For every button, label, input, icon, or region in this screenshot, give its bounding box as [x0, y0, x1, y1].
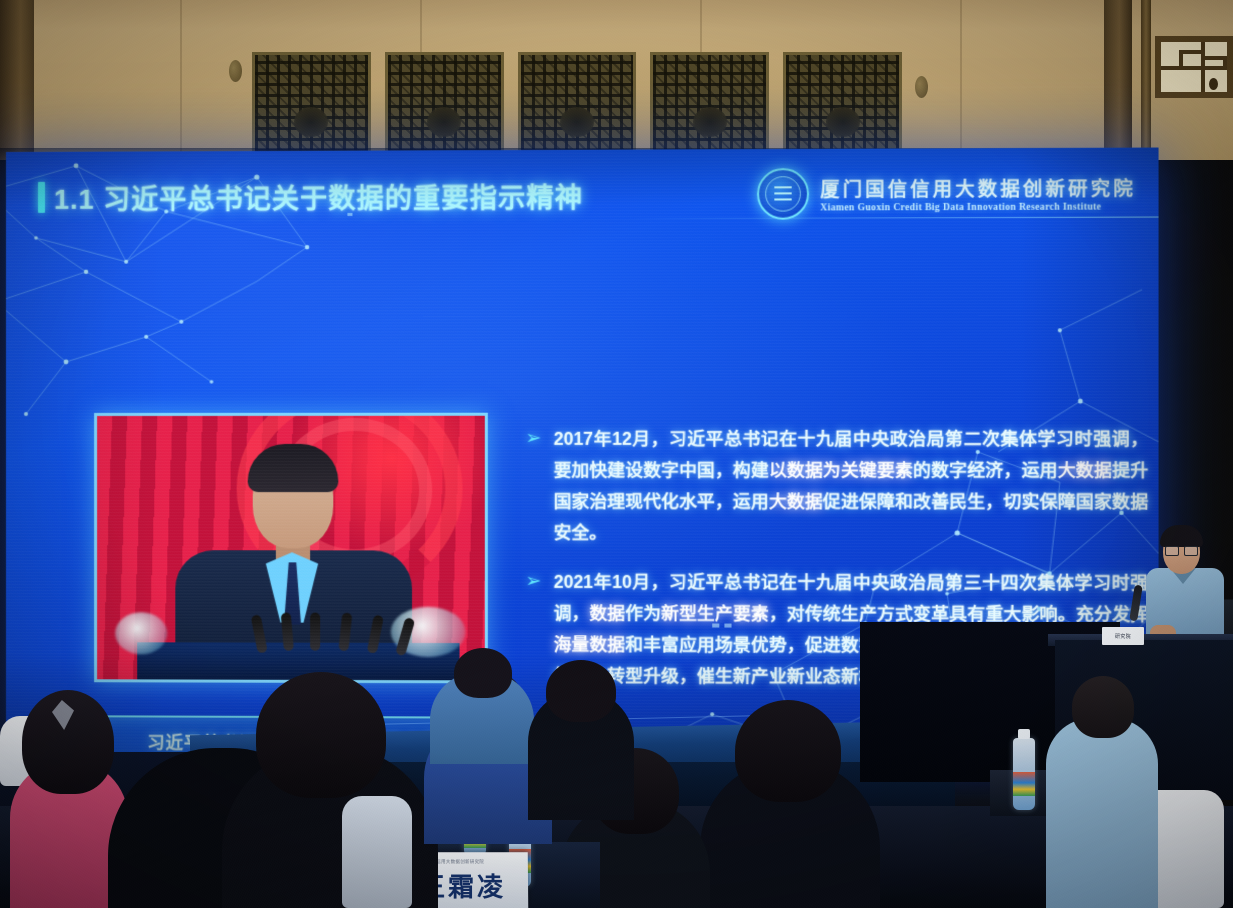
bullet-plain: 作为	[625, 603, 661, 623]
organization-name-en: Xiamen Guoxin Credit Big Data Innovation…	[820, 202, 1136, 213]
decorative-lattice-panels	[252, 52, 902, 160]
chair	[342, 796, 412, 908]
wall-pillar-left	[0, 0, 34, 160]
bullet-highlight: 以数据为关键要素	[769, 460, 913, 480]
bullet-highlight: 新型生产要素	[661, 603, 769, 623]
audience-member-head	[256, 672, 386, 798]
chevron-right-icon: ➢	[525, 424, 541, 549]
organization-logo-block: 厦门国信信用大数据创新研究院 Xiamen Guoxin Credit Big …	[757, 167, 1136, 220]
conference-room-photo: 1.1 习近平总书记关于数据的重要指示精神 厦门国信信用大数据创新研究院 Xia…	[0, 0, 1233, 908]
podium-name-sign: 研究院	[1102, 627, 1144, 645]
bullet-highlight: 数据	[589, 603, 625, 623]
microphone-icon	[310, 613, 320, 651]
audience-member-head	[546, 660, 616, 722]
presenter-glasses-icon	[1165, 546, 1198, 554]
bullet-item: ➢ 2017年12月，习近平总书记在十九届中央政治局第二次集体学习时强调，要加快…	[525, 424, 1148, 550]
title-accent-bar	[38, 182, 45, 213]
slide-title-row: 1.1 习近平总书记关于数据的重要指示精神	[38, 176, 583, 217]
audience-member-head	[1072, 676, 1134, 738]
flower-arrangement	[115, 612, 167, 654]
organization-name-cn: 厦门国信信用大数据创新研究院	[820, 173, 1136, 201]
bullet-highlight: 海量数据	[554, 634, 626, 654]
window-mullion	[1141, 0, 1151, 160]
wall-knob	[915, 76, 928, 98]
water-bottle	[1013, 738, 1035, 810]
slide-title: 1.1 习近平总书记关于数据的重要指示精神	[54, 176, 583, 217]
wall-knob	[229, 60, 242, 82]
leader-speech-photo	[94, 413, 488, 684]
audience-member-body	[1046, 718, 1158, 908]
presenter-hair	[1160, 525, 1203, 547]
institute-seal-icon	[757, 168, 809, 220]
bullet-highlight: 大数据	[1058, 460, 1112, 480]
bullet-highlight: 大数据	[769, 491, 823, 511]
audience-member-head	[454, 648, 512, 698]
audience-member-head	[735, 700, 841, 802]
podium-sign-text: 研究院	[1115, 633, 1131, 640]
lattice-window	[1155, 36, 1233, 98]
wall-pillar-right	[1104, 0, 1132, 160]
bullet-text-2017: 2017年12月，习近平总书记在十九届中央政治局第二次集体学习时强调，要加快建设…	[554, 424, 1149, 550]
bullet-plain: 的数字经济，运用	[913, 460, 1058, 480]
